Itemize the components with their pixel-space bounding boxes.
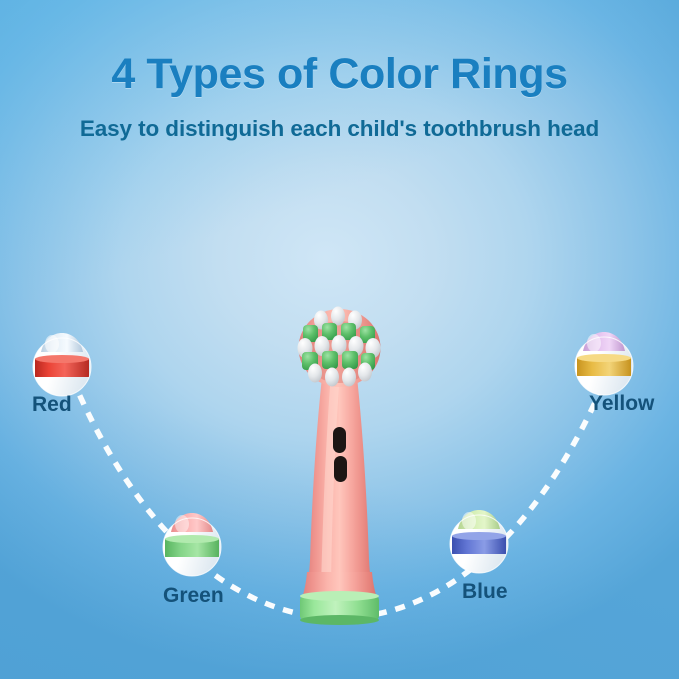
toothbrush-head-product: [298, 307, 381, 626]
page-title: 4 Types of Color Rings: [0, 52, 679, 98]
ring-label-blue: Blue: [462, 580, 508, 604]
ring-label-green: Green: [163, 584, 224, 608]
color-ring-blue[interactable]: [450, 510, 508, 573]
infographic-canvas: 4 Types of Color Rings Easy to distingui…: [0, 0, 679, 679]
color-ring-yellow[interactable]: [575, 332, 633, 395]
ring-label-yellow: Yellow: [589, 392, 654, 416]
heading-block: 4 Types of Color Rings Easy to distingui…: [0, 52, 679, 142]
ring-label-red: Red: [32, 393, 72, 417]
page-subtitle: Easy to distinguish each child's toothbr…: [0, 116, 679, 142]
installed-color-ring-green: [300, 591, 379, 625]
neck-slot-upper: [333, 427, 346, 453]
color-ring-green[interactable]: [163, 513, 221, 576]
neck-slot-lower: [334, 456, 347, 482]
color-ring-red[interactable]: [33, 333, 91, 396]
